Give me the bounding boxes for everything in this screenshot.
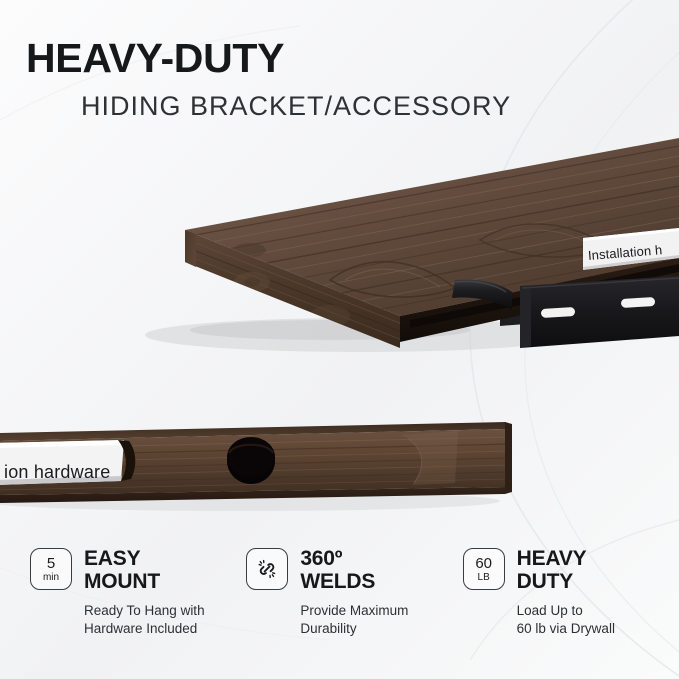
feature-header: 360º WELDS xyxy=(246,548,462,593)
feature-desc-line2: Hardware Included xyxy=(84,620,246,638)
feature-desc-line1: Ready To Hang with xyxy=(84,602,246,620)
feature-list: 5 min EASY MOUNT Ready To Hang with Hard… xyxy=(0,548,679,668)
feature-easy-mount: 5 min EASY MOUNT Ready To Hang with Hard… xyxy=(30,548,246,668)
feature-desc-line2: Durability xyxy=(300,620,462,638)
feature-title-line1: 360º xyxy=(300,548,375,571)
feature-title: EASY MOUNT xyxy=(84,548,160,593)
feature-description: Load Up to 60 lb via Drywall xyxy=(517,602,679,638)
feature-title: 360º WELDS xyxy=(300,548,375,593)
clock-badge-icon: 5 min xyxy=(30,548,72,590)
page-title: HEAVY-DUTY xyxy=(26,38,646,80)
feature-desc-line1: Load Up to xyxy=(517,602,679,620)
feature-title-line2: WELDS xyxy=(300,571,375,594)
feature-description: Provide Maximum Durability xyxy=(300,602,462,638)
feature-header: 60 LB HEAVY DUTY xyxy=(463,548,679,593)
feature-title-line1: HEAVY xyxy=(517,548,587,571)
feature-desc-line1: Provide Maximum xyxy=(300,602,462,620)
headline-block: HEAVY-DUTY HIDING BRACKET/ACCESSORY xyxy=(26,38,646,120)
lower-shelf-label-text: ion hardware xyxy=(4,462,110,483)
badge-unit: min xyxy=(43,573,59,583)
feature-title: HEAVY DUTY xyxy=(517,548,587,593)
weight-badge-icon: 60 LB xyxy=(463,548,505,590)
product-marketing-image: HEAVY-DUTY HIDING BRACKET/ACCESSORY xyxy=(0,0,679,679)
feature-title-line1: EASY xyxy=(84,548,160,571)
feature-heavy-duty: 60 LB HEAVY DUTY Load Up to 60 lb via Dr… xyxy=(463,548,679,668)
feature-title-line2: MOUNT xyxy=(84,571,160,594)
badge-value: 5 xyxy=(47,556,55,571)
feature-header: 5 min EASY MOUNT xyxy=(30,548,246,593)
page-subtitle: HIDING BRACKET/ACCESSORY xyxy=(81,92,646,120)
badge-value: 60 xyxy=(475,556,492,571)
chain-link-icon xyxy=(246,548,288,590)
feature-360-welds: 360º WELDS Provide Maximum Durability xyxy=(246,548,462,668)
badge-unit: LB xyxy=(478,573,490,583)
feature-title-line2: DUTY xyxy=(517,571,587,594)
upper-shelf-product-photo xyxy=(0,130,679,380)
feature-description: Ready To Hang with Hardware Included xyxy=(84,602,246,638)
feature-desc-line2: 60 lb via Drywall xyxy=(517,620,679,638)
